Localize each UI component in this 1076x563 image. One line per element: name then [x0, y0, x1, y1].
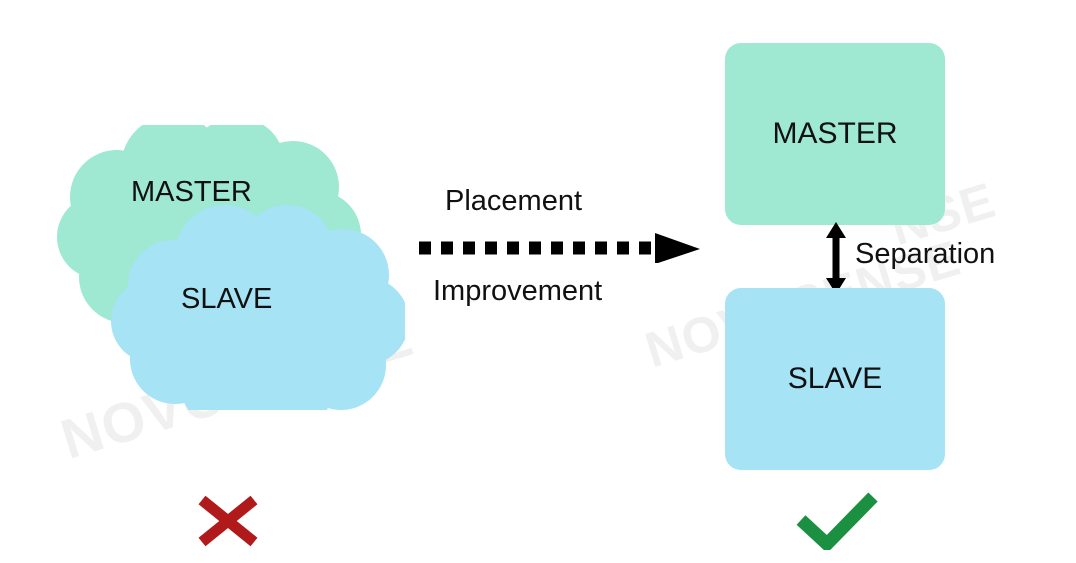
box-master-label: MASTER — [772, 117, 897, 151]
flow-label-bottom: Improvement — [433, 275, 602, 308]
box-slave-label: SLAVE — [788, 362, 883, 396]
overlapping-clouds-group — [55, 125, 405, 410]
cross-icon — [192, 490, 264, 557]
check-icon — [795, 492, 881, 555]
cloud-slave-label: SLAVE — [181, 283, 272, 316]
diagram-canvas: NOVOSENSE NOVOSENSE NSE — [0, 0, 1076, 563]
dashed-right-arrow-icon — [415, 233, 705, 268]
separation-label: Separation — [855, 238, 995, 271]
box-slave: SLAVE — [725, 288, 945, 470]
clouds-svg — [55, 125, 405, 410]
flow-label-top: Placement — [445, 185, 582, 218]
placement-improvement-flow: Placement Improvement — [415, 185, 705, 310]
cloud-master-label: MASTER — [131, 176, 252, 209]
box-master: MASTER — [725, 43, 945, 225]
